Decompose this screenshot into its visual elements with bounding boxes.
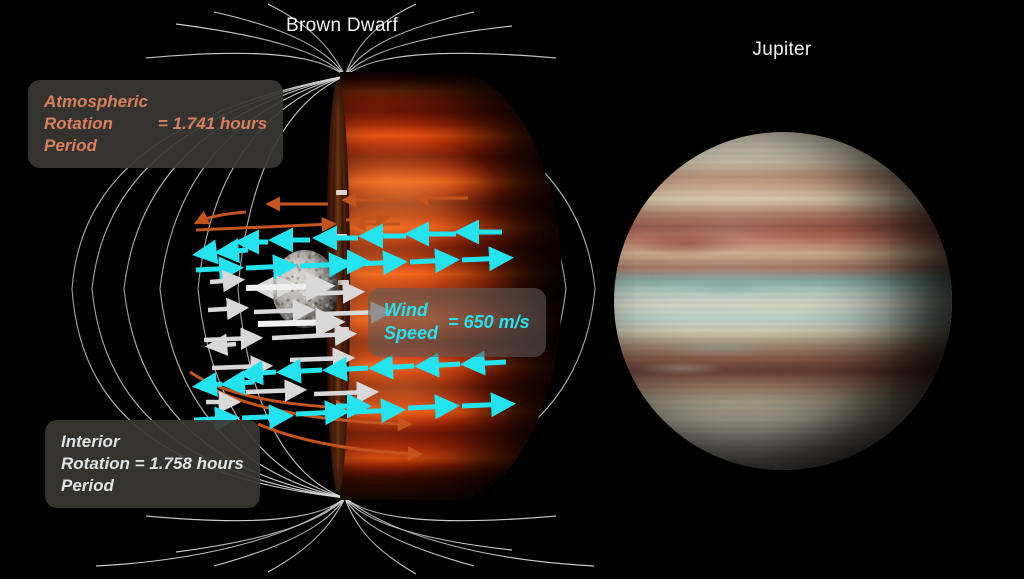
wind-speed-label: Wind Speed = 650 m/s [368, 288, 546, 357]
atmospheric-equals-sign: = [158, 114, 168, 133]
atmospheric-label-line2: Rotation [44, 113, 148, 135]
atmospheric-rotation-value: 1.741 hours [173, 114, 268, 133]
interior-equals-sign: = [135, 454, 145, 473]
interior-label-line1: Interior [61, 431, 244, 453]
wind-arrow [200, 232, 502, 254]
wind-speed-value: 650 m/s [464, 312, 530, 332]
wind-label-line1: Wind [384, 299, 438, 322]
outer-flow-arrow [198, 198, 468, 224]
jupiter-planet [614, 132, 952, 470]
interior-label-line2: Rotation [61, 454, 130, 473]
illustration-canvas: Brown Dwarf Jupiter Atmospheric Rotation… [0, 0, 1024, 579]
brown-dwarf-title: Brown Dwarf [272, 15, 412, 37]
interior-rotation-label: Interior Rotation = 1.758 hours Period [45, 420, 260, 508]
interior-rotation-value: 1.758 hours [149, 454, 244, 473]
atmospheric-label-line3: Period [44, 135, 148, 157]
atmospheric-label-line1: Atmospheric [44, 91, 148, 113]
wind-equals-sign: = [448, 312, 459, 332]
interior-label-line3: Period [61, 475, 244, 497]
jupiter-title: Jupiter [712, 39, 852, 61]
atmospheric-rotation-label: Atmospheric Rotation Period = 1.741 hour… [28, 80, 283, 168]
wind-label-line2: Speed [384, 322, 438, 345]
